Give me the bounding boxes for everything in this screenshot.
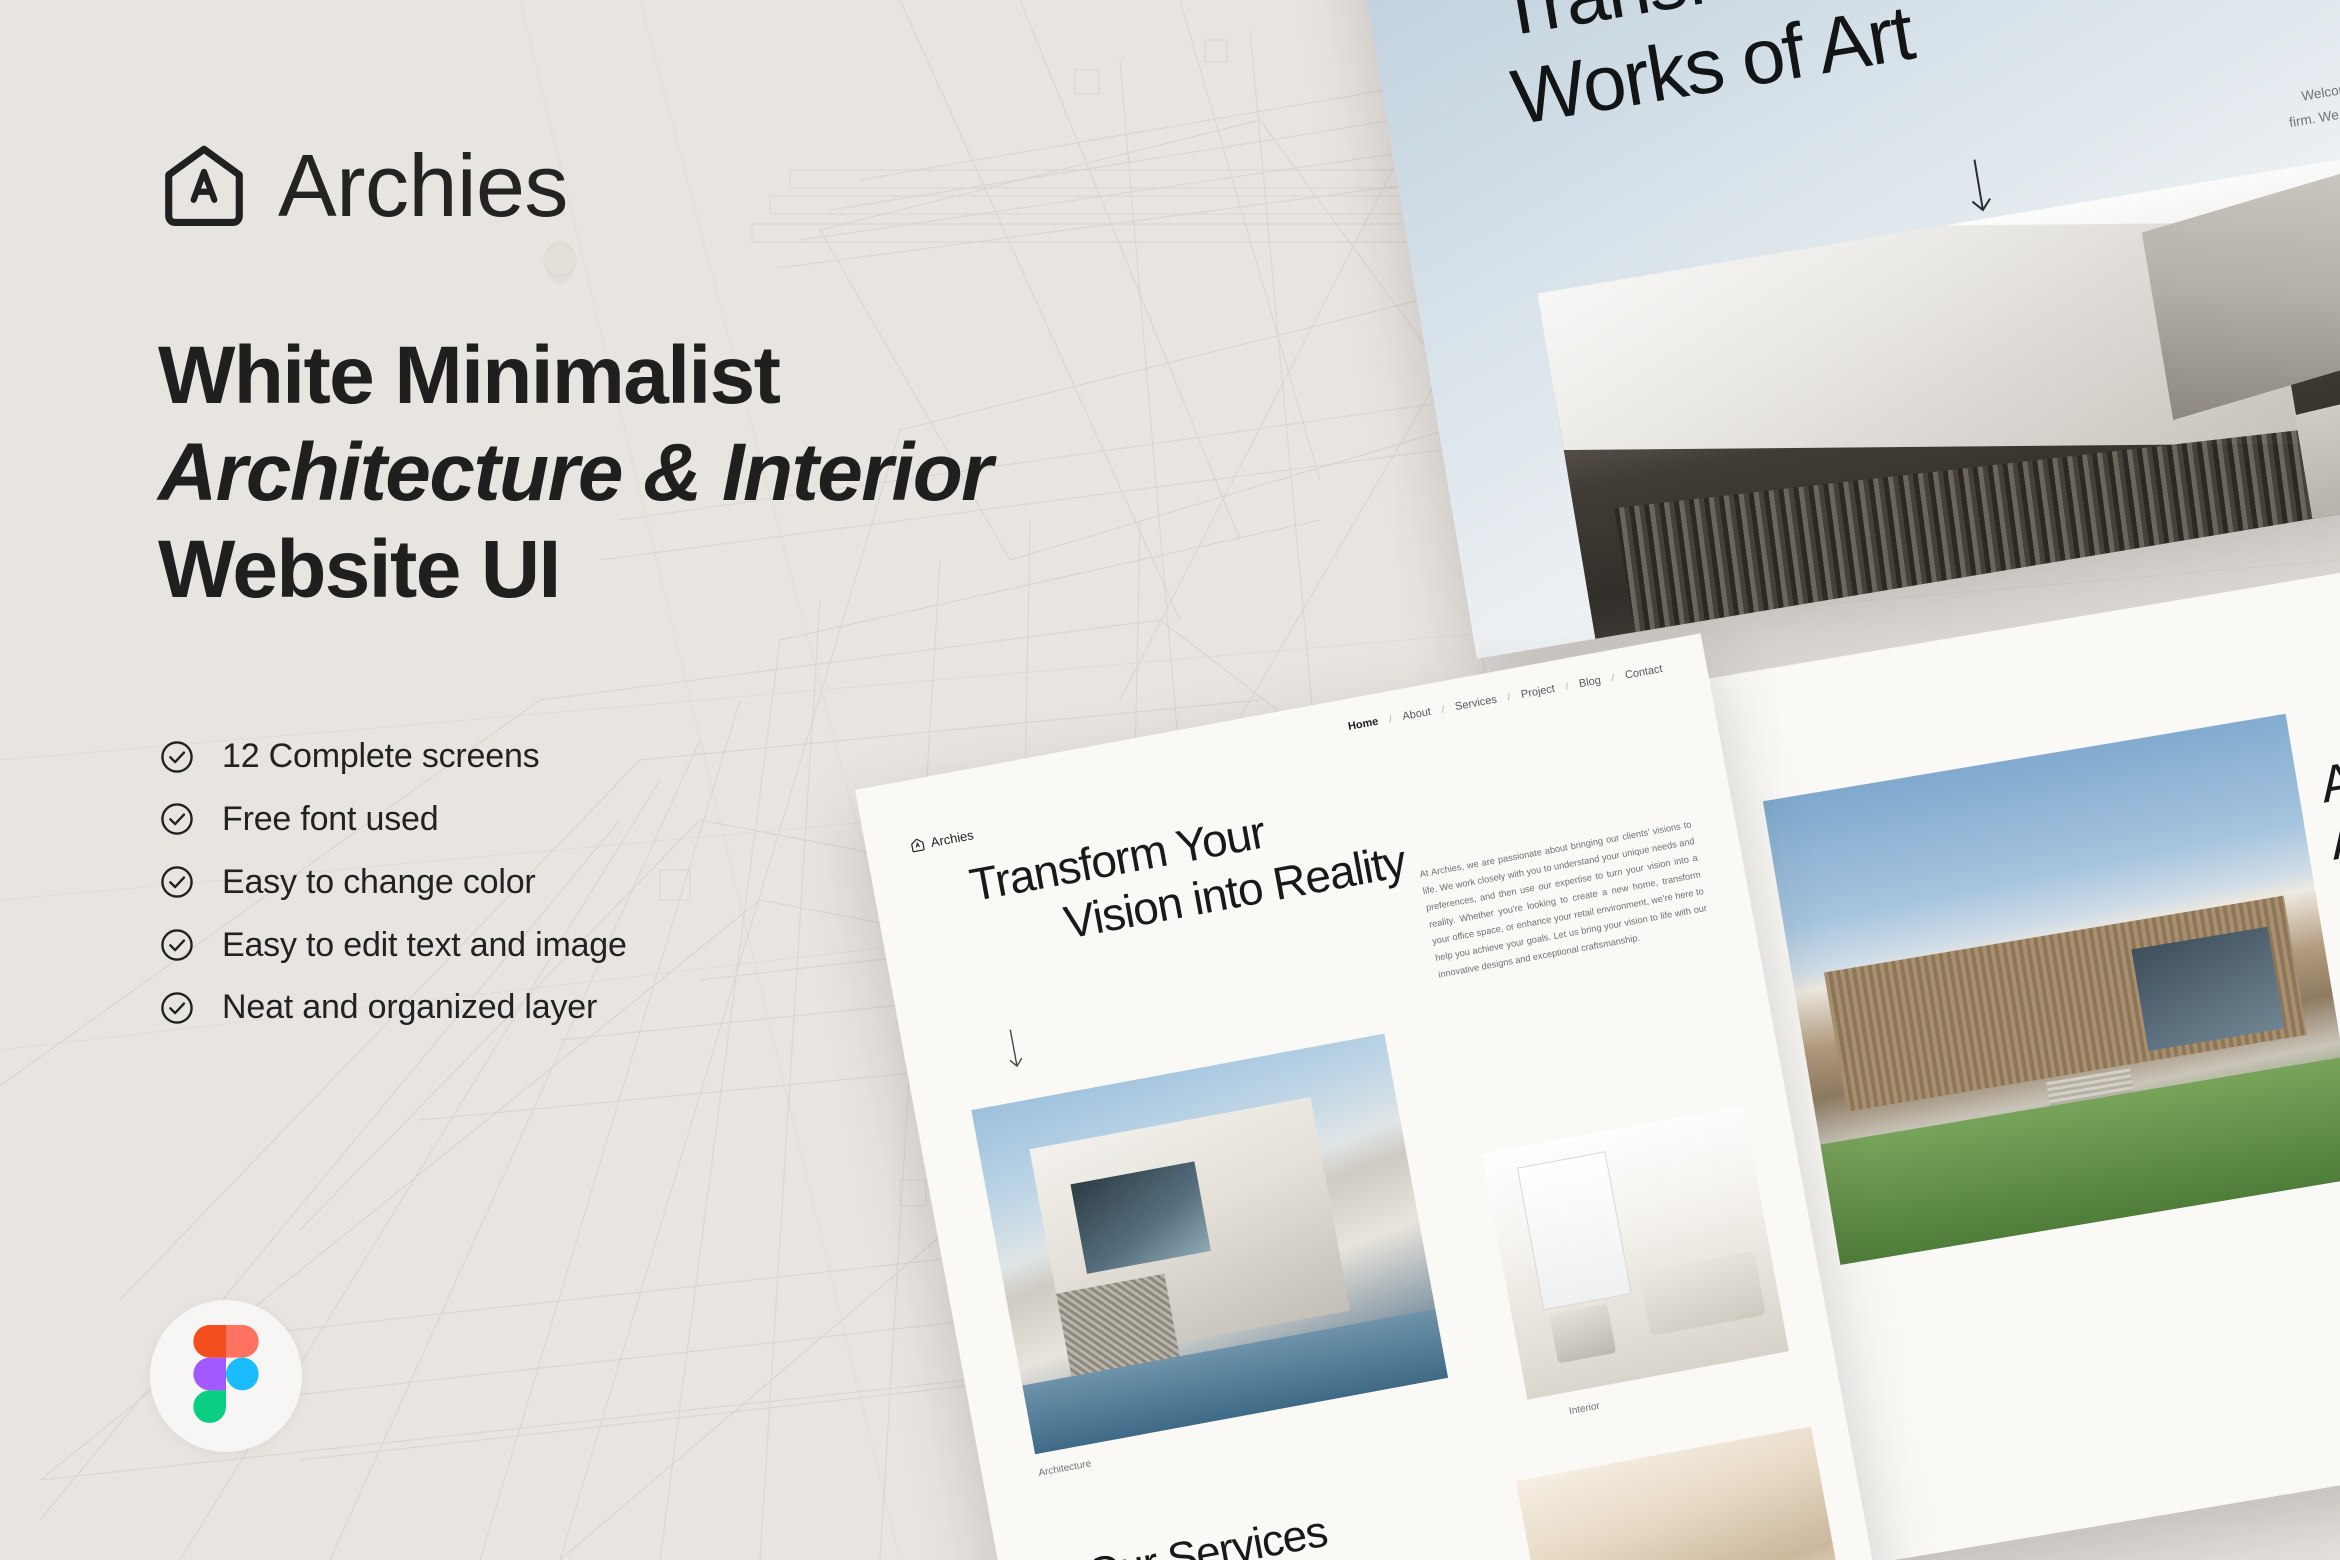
nav-separator: / (1507, 692, 1512, 703)
house-a-icon (158, 140, 250, 232)
feature-label: Neat and organized layer (222, 987, 597, 1028)
mid-nav-services[interactable]: Services (1454, 694, 1498, 713)
about-title: About/ Archies (2316, 730, 2340, 872)
hero-subtext: Welcome to Archies, a full service archi… (2276, 39, 2340, 160)
nav-separator: / (1611, 672, 1616, 683)
services-photo (1516, 1426, 1855, 1560)
feature-label: 12 Complete screens (222, 736, 539, 777)
about-title-line1: About (2316, 736, 2340, 815)
nav-separator: / (1565, 681, 1570, 692)
hero-building-photo (1538, 127, 2340, 659)
interior-photo (1482, 1105, 1789, 1399)
mid-navbar: Home / About / Services / Project / Blog… (1347, 663, 1663, 733)
check-circle-icon (158, 738, 196, 776)
nav-separator: / (1441, 704, 1446, 715)
list-item: Free font used (158, 799, 1178, 840)
services-heading: Our Services (1084, 1507, 1331, 1560)
mid-nav-project[interactable]: Project (1520, 683, 1556, 701)
brand-lockup: Archies (158, 140, 1178, 232)
headline-line-3: Website UI (158, 522, 1178, 619)
headline-line-1: White Minimalist (158, 328, 1178, 425)
feature-label: Easy to edit text and image (222, 925, 627, 966)
headline-line-2: Architecture & Interior (158, 425, 1178, 522)
feature-label: Free font used (222, 799, 438, 840)
check-circle-icon (158, 863, 196, 901)
poster-canvas: Home / About / Services / Project Archie… (0, 0, 2340, 1560)
hero-heading: Transforming Spaces into Works of Art (1491, 0, 2340, 142)
figma-icon (193, 1325, 259, 1428)
arrow-down-icon[interactable] (1961, 156, 1996, 217)
architecture-photo (971, 1034, 1448, 1455)
list-item: Easy to edit text and image (158, 925, 1178, 966)
brand-name: Archies (278, 142, 568, 230)
page-title: White Minimalist Architecture & Interior… (158, 328, 1178, 618)
check-circle-icon (158, 926, 196, 964)
caption-architecture: Architecture (1038, 1458, 1092, 1479)
mid-nav-about[interactable]: About (1402, 706, 1432, 723)
list-item: Easy to change color (158, 862, 1178, 903)
about-building-photo (1763, 714, 2340, 1265)
arrow-down-icon[interactable] (1001, 1026, 1027, 1073)
caption-interior: Interior (1568, 1401, 1601, 1417)
check-circle-icon (158, 800, 196, 838)
feature-list: 12 Complete screens Free font used Easy … (158, 736, 1178, 1028)
check-circle-icon (158, 989, 196, 1027)
mid-nav-home[interactable]: Home (1347, 716, 1379, 733)
figma-badge (150, 1300, 302, 1452)
promo-copy-panel: Archies White Minimalist Architecture & … (158, 140, 1178, 1028)
nav-separator: / (1388, 714, 1393, 725)
mockup-hero-screen: Home / About / Services / Project Archie… (1340, 0, 2340, 659)
mid-nav-blog[interactable]: Blog (1578, 674, 1602, 690)
mid-nav-contact[interactable]: Contact (1624, 663, 1663, 682)
feature-label: Easy to change color (222, 862, 536, 903)
list-item: Neat and organized layer (158, 987, 1178, 1028)
list-item: 12 Complete screens (158, 736, 1178, 777)
